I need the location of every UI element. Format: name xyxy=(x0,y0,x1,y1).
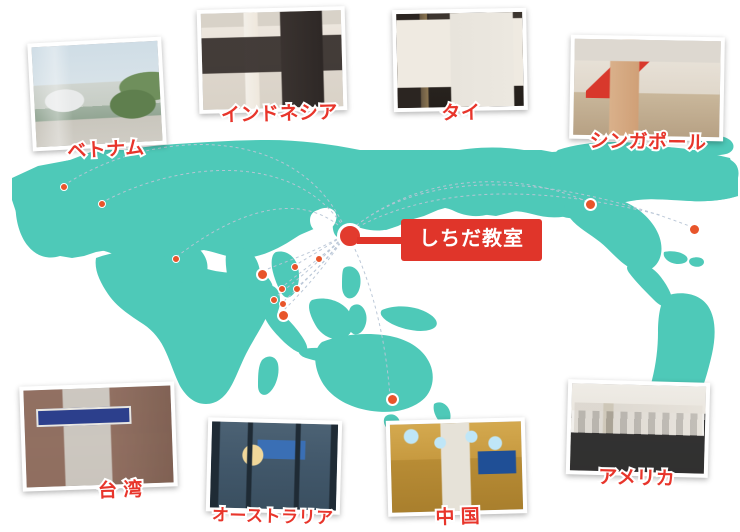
city-dot-singapore[interactable] xyxy=(277,309,290,322)
photo-caption-america: アメリカ xyxy=(565,467,707,490)
photo-scene-thailand xyxy=(396,12,524,108)
photo-image-singapore xyxy=(573,39,721,138)
city-dot-malaysia[interactable] xyxy=(270,296,278,304)
photo-scene-indonesia xyxy=(201,10,343,110)
photo-image-vietnam xyxy=(31,41,162,147)
city-dot-uk[interactable] xyxy=(60,183,68,191)
photo-image-china xyxy=(390,421,523,512)
city-dot-middle-east[interactable] xyxy=(172,255,180,263)
photo-scene-vietnam xyxy=(31,41,162,147)
city-dot-taiwan[interactable] xyxy=(386,393,399,406)
photo-card-thailand[interactable]: タイ xyxy=(392,8,528,112)
photo-card-indonesia[interactable]: インドネシア xyxy=(197,6,348,114)
photo-card-australia[interactable]: オーストラリア xyxy=(206,417,342,514)
city-dot-malaysia-2[interactable] xyxy=(279,300,287,308)
photo-caption-indonesia: インドネシア xyxy=(205,103,353,126)
photo-image-america xyxy=(570,383,706,473)
city-dot-thailand[interactable] xyxy=(278,285,286,293)
city-dot-india-west[interactable] xyxy=(256,268,269,281)
photo-card-vietnam[interactable]: ベトナム xyxy=(27,37,166,152)
hq-callout-stem xyxy=(357,237,401,244)
photo-image-taiwan xyxy=(23,385,173,487)
hq-callout-label: しちだ教室 xyxy=(401,219,542,261)
photo-card-america[interactable]: アメリカ xyxy=(566,379,710,478)
photo-caption-australia: オーストラリア xyxy=(205,506,339,527)
city-dot-hong-kong[interactable] xyxy=(315,255,323,263)
city-dot-central-europe[interactable] xyxy=(98,200,106,208)
photo-scene-china xyxy=(390,421,523,512)
photo-caption-china: 中 国 xyxy=(388,506,527,529)
photo-card-taiwan[interactable]: 台 湾 xyxy=(19,381,178,491)
world-map-infographic: しちだ教室 ベトナムインドネシアタイシンガポール台 湾オーストラリア中 国アメリ… xyxy=(0,0,740,532)
photo-scene-singapore xyxy=(573,39,721,138)
city-dot-myanmar[interactable] xyxy=(291,263,299,271)
photo-card-china[interactable]: 中 国 xyxy=(386,417,527,517)
photo-caption-thailand: タイ xyxy=(394,103,528,124)
photo-scene-taiwan xyxy=(23,385,173,487)
city-dot-usa-east[interactable] xyxy=(688,223,701,236)
photo-scene-australia xyxy=(210,421,338,510)
photo-image-australia xyxy=(210,421,338,510)
hq-callout[interactable]: しちだ教室 xyxy=(357,219,542,261)
photo-scene-america xyxy=(570,383,706,473)
city-dot-vietnam[interactable] xyxy=(293,285,301,293)
city-dot-usa-west[interactable] xyxy=(584,198,597,211)
photo-card-singapore[interactable]: シンガポール xyxy=(569,35,725,142)
photo-caption-singapore: シンガポール xyxy=(571,132,725,154)
photo-image-indonesia xyxy=(201,10,343,110)
photo-image-thailand xyxy=(396,12,524,108)
